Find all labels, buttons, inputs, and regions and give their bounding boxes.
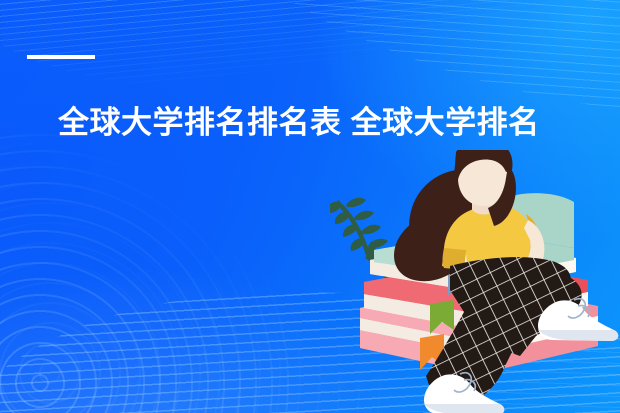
page-title: 全球大学排名排名表 全球大学排名 <box>58 103 618 143</box>
accent-rule <box>27 55 95 59</box>
promo-banner: 全球大学排名排名表 全球大学排名 <box>0 0 620 413</box>
hero-illustration <box>330 150 620 413</box>
